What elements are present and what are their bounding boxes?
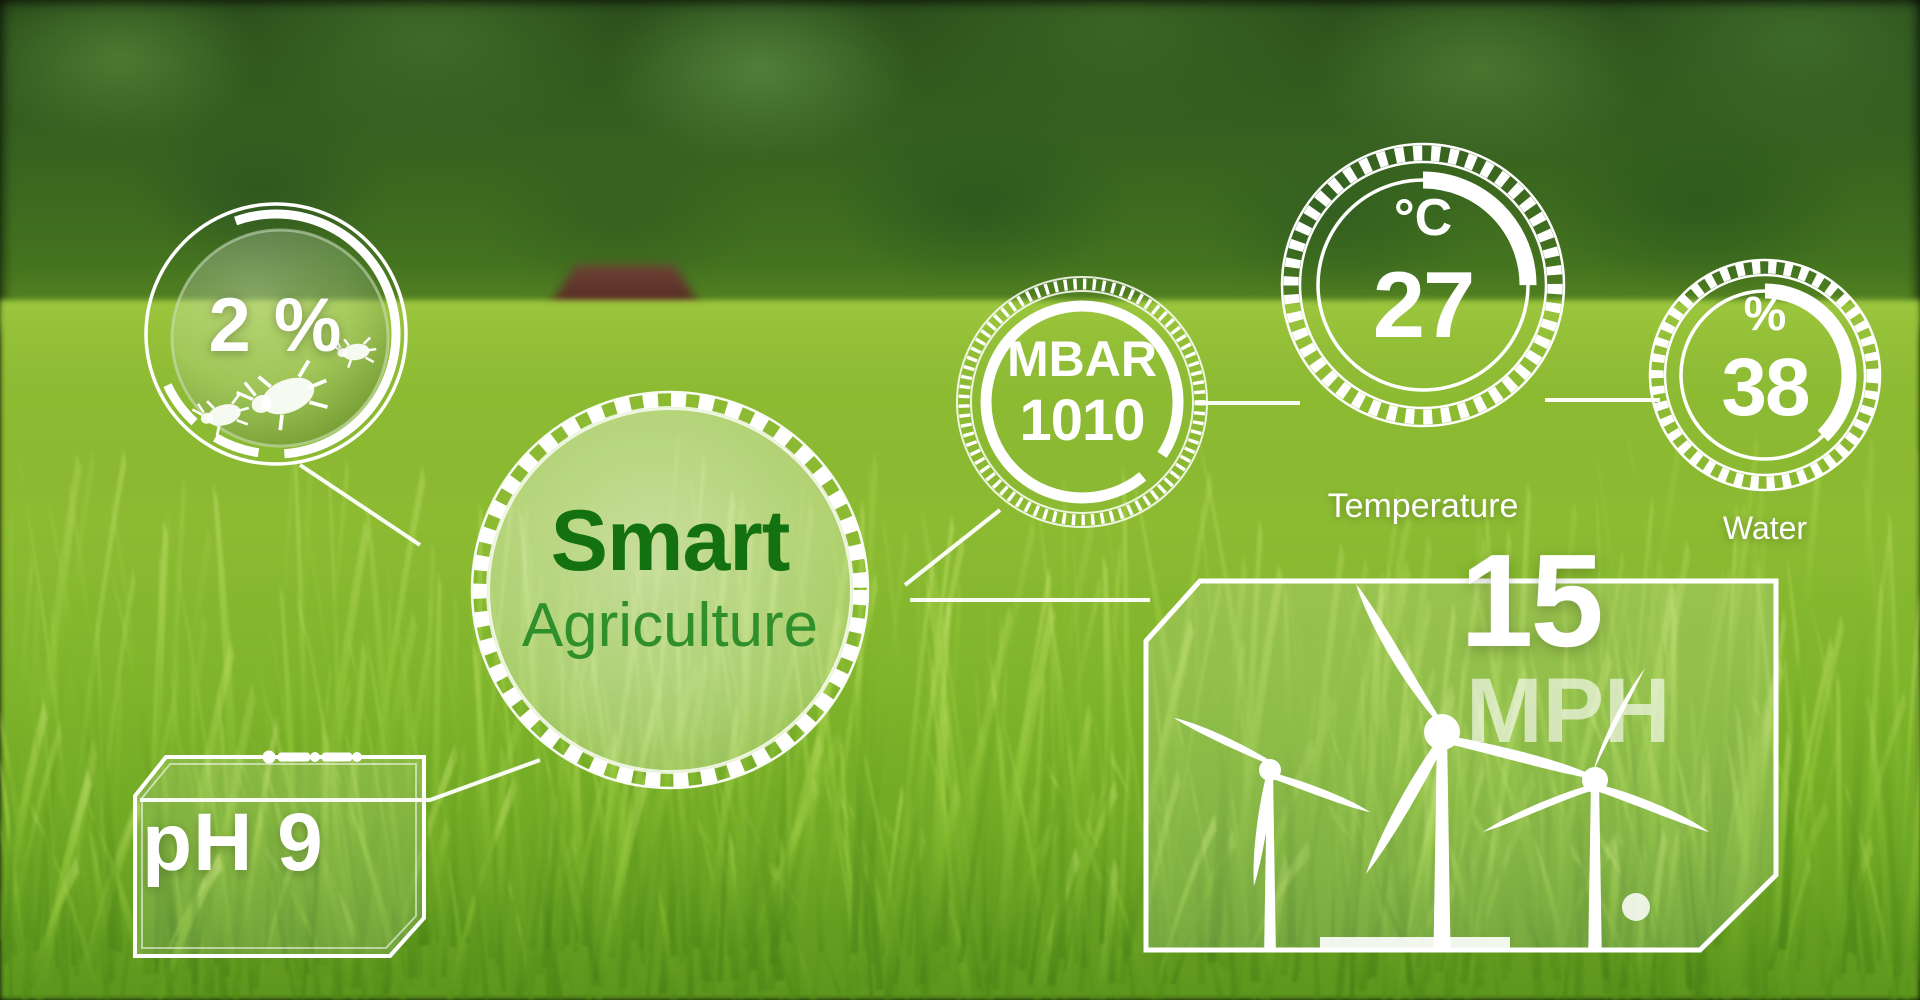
widget-temperature[interactable]: °C 27 [1278, 140, 1568, 430]
water-unit-label: % [1645, 291, 1885, 339]
pressure-value: 1010 [952, 392, 1212, 450]
widget-pressure[interactable]: MBAR 1010 [952, 272, 1212, 532]
temperature-unit-label: °C [1278, 192, 1568, 244]
temperature-caption: Temperature [1278, 487, 1568, 526]
center-title: Smart [460, 498, 880, 584]
pest-value: 2 % [138, 288, 413, 364]
dashboard-stage: 2 % Smart Agriculture [0, 0, 1920, 1000]
wind-value: 15 [1460, 535, 1760, 667]
connector-pest-to-center [300, 465, 420, 545]
widget-wind[interactable]: 15 MPH [1140, 575, 1780, 975]
ph-value: pH 9 [142, 802, 414, 884]
water-value: 38 [1645, 347, 1885, 429]
widget-smart-agriculture[interactable]: Smart Agriculture [460, 380, 880, 800]
widget-ph[interactable]: pH 9 [128, 750, 428, 965]
widget-water[interactable]: % 38 [1645, 255, 1885, 495]
wind-unit: MPH [1466, 665, 1806, 757]
temperature-value: 27 [1278, 258, 1568, 352]
widget-pest-infestation[interactable]: 2 % [138, 200, 413, 475]
pressure-unit-label: MBAR [952, 334, 1212, 384]
center-subtitle: Agriculture [460, 595, 880, 657]
wind-corner-dot [1622, 893, 1650, 921]
